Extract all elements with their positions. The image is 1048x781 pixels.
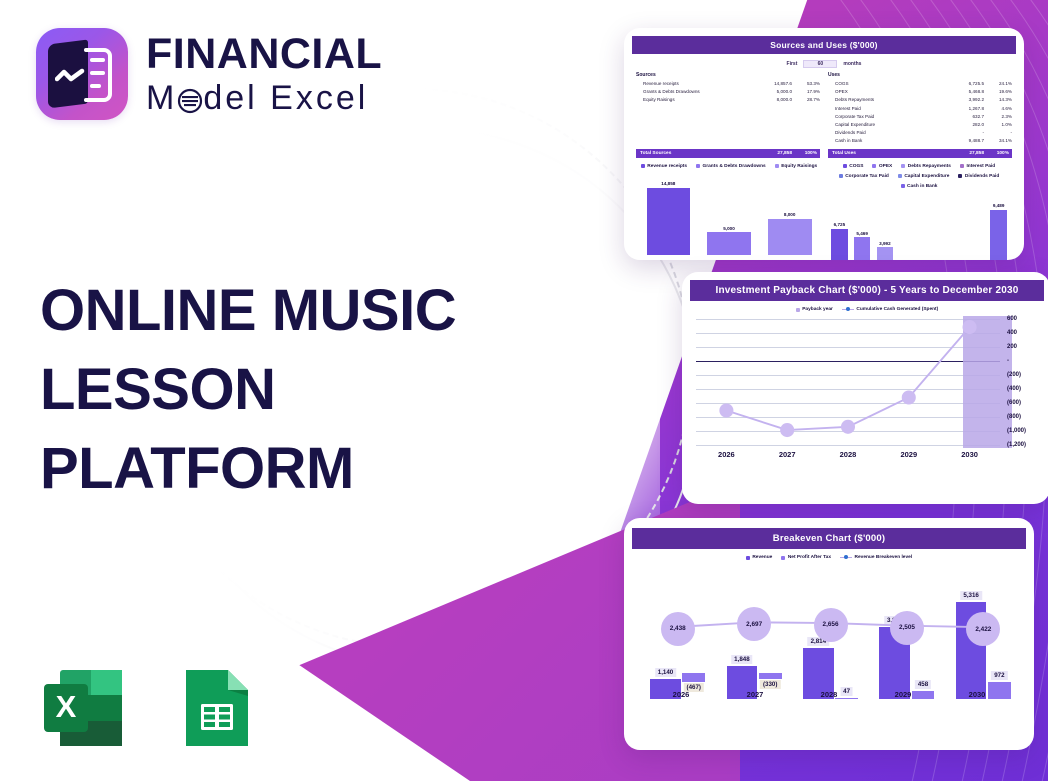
y-axis-tick-label: (400) <box>1002 386 1042 392</box>
card-investment-payback[interactable]: Investment Payback Chart ($'000) - 5 Yea… <box>682 272 1048 504</box>
legend-label: Cash in Bank <box>907 184 937 189</box>
sources-header: Sources <box>636 72 820 78</box>
legend-item: Grants & Debts Drawdowns <box>696 164 766 169</box>
row-pct: 53.3% <box>792 80 820 88</box>
row-pct: 34.1% <box>984 137 1012 145</box>
legend-label: Net Profit After Tax <box>788 555 831 560</box>
legend-swatch <box>641 164 645 168</box>
brand-name-line2: M del Excel <box>146 81 382 115</box>
sources-uses-table: Sources Revenue receipts14,857.653.3%Gra… <box>632 72 1016 158</box>
legend-swatch <box>872 164 876 168</box>
row-pct: 14.3% <box>984 96 1012 104</box>
legend-line <box>842 309 854 311</box>
google-sheets-icon <box>170 662 262 754</box>
bar-column: 0 <box>965 191 988 260</box>
row-value: 5,468.8 <box>944 88 984 96</box>
legend-swatch <box>843 164 847 168</box>
table-row: Debts Repayments3,992.214.3% <box>828 96 1012 104</box>
payback-data-points <box>696 316 1000 440</box>
sources-row-padding <box>636 105 820 146</box>
bar[interactable] <box>854 237 870 260</box>
x-axis-tick-label: 2029 <box>878 450 939 468</box>
row-label: Dividends Paid <box>828 129 944 137</box>
legend-label: Grants & Debts Drawdowns <box>703 164 766 169</box>
breakeven-bubble[interactable]: 2,438 <box>661 612 695 646</box>
legend-label: Payback year <box>802 307 833 312</box>
table-row: Dividends Paid-- <box>828 129 1012 137</box>
legend-swatch <box>796 308 800 312</box>
legend-item: Net Profit After Tax <box>781 555 831 560</box>
legend-item: OPEX <box>872 164 892 169</box>
legend-swatch <box>901 164 905 168</box>
legend-label: Revenue receipts <box>647 164 687 169</box>
row-pct: 24.1% <box>984 80 1012 88</box>
bar-value-label: 5,000 <box>723 226 735 231</box>
row-value: 632.7 <box>944 113 984 121</box>
table-row: Revenue receipts14,857.653.3% <box>636 80 820 88</box>
bar[interactable] <box>768 219 812 255</box>
poster-canvas: FINANCIAL M del Excel ONLINE MUSIC LESSO… <box>0 0 1048 781</box>
uses-rows: COGS6,725.524.1%OPEX5,468.819.6%Debts Re… <box>828 80 1012 146</box>
uses-chart-legend: COGSOPEXDebts RepaymentsInterest PaidCor… <box>826 164 1012 189</box>
hex-o-icon <box>177 82 203 114</box>
page-title-line3: PLATFORM <box>40 430 510 509</box>
sources-rows: Revenue receipts14,857.653.3%Grants & De… <box>636 80 820 105</box>
bar-column: 633 <box>919 191 942 260</box>
legend-label: OPEX <box>879 164 892 169</box>
y-axis-tick-label: (1,200) <box>1002 442 1042 448</box>
legend-item: Payback year <box>796 307 833 312</box>
row-label: OPEX <box>828 88 944 96</box>
brand-name-line1: FINANCIAL <box>146 33 382 76</box>
legend-label: Interest Paid <box>966 164 995 169</box>
row-value: 6,725.5 <box>944 80 984 88</box>
row-value: 282.0 <box>944 121 984 129</box>
legend-label: COGS <box>849 164 863 169</box>
payback-chart-legend: Payback yearCumulative Cash Generated (S… <box>690 307 1044 312</box>
bar-column: 282 <box>942 191 965 260</box>
row-value: 8,000.0 <box>752 96 792 104</box>
breakeven-plot[interactable]: 1,140(467)2,4381,848(330)2,6972,814472,6… <box>638 564 1020 712</box>
uses-bars: 6,7255,4693,9921,26863328209,489 <box>826 191 1012 260</box>
legend-swatch <box>960 164 964 168</box>
gridline <box>696 445 1000 446</box>
page-title-line1: ONLINE MUSIC <box>40 272 510 351</box>
legend-item: Revenue Breakeven level <box>840 555 912 560</box>
legend-label: Equity Raisings <box>781 164 817 169</box>
row-pct: 2.3% <box>984 113 1012 121</box>
legend-swatch <box>898 174 902 178</box>
payback-x-axis: 20262027202820292030 <box>696 450 1000 468</box>
total-sources-row: Total Sources 27,858 100% <box>636 149 820 158</box>
bar-value-label: 1,268 <box>902 259 914 260</box>
card-sources-and-uses[interactable]: Sources and Uses ($'000) First 60 months… <box>624 28 1024 260</box>
months-input[interactable]: 60 <box>803 60 837 68</box>
legend-label: Capital Expenditure <box>904 174 949 179</box>
total-uses-row: Total Uses 27,858 100% <box>828 149 1012 158</box>
legend-line <box>840 557 852 559</box>
row-pct: 1.0% <box>984 121 1012 129</box>
legend-item: Equity Raisings <box>775 164 817 169</box>
total-sources-pct: 100% <box>792 149 820 158</box>
breakeven-bubble[interactable]: 2,422 <box>966 612 1000 646</box>
format-icons: X <box>38 662 262 754</box>
bar[interactable] <box>647 188 691 255</box>
legend-item: Debts Repayments <box>901 164 951 169</box>
row-label: Interest Paid <box>828 105 944 113</box>
y-axis-tick-label: (800) <box>1002 414 1042 420</box>
period-selector[interactable]: First 60 months <box>632 60 1016 68</box>
bar-value-label: 6,725 <box>834 222 846 227</box>
sources-column: Sources Revenue receipts14,857.653.3%Gra… <box>636 72 820 158</box>
row-value: 14,857.6 <box>752 80 792 88</box>
x-axis-tick-label: 2030 <box>939 450 1000 468</box>
breakeven-title: Breakeven Chart ($'000) <box>632 528 1026 549</box>
table-row: Cash in Bank9,488.734.1% <box>828 137 1012 145</box>
row-value: 1,267.8 <box>944 105 984 113</box>
x-axis-tick-label: 2028 <box>818 450 879 468</box>
legend-item: Capital Expenditure <box>898 174 950 179</box>
row-label: Capital Expenditure <box>828 121 944 129</box>
brand-line2-suffix: del Excel <box>203 81 368 115</box>
table-row: Capital Expenditure282.01.0% <box>828 121 1012 129</box>
bar-column: 1,268 <box>896 191 919 260</box>
legend-line-swatch <box>842 309 854 311</box>
legend-swatch <box>839 174 843 178</box>
breakeven-bubble[interactable]: 2,697 <box>737 607 771 641</box>
table-row: Equity Raisings8,000.028.7% <box>636 96 820 104</box>
total-uses-pct: 100% <box>984 149 1012 158</box>
sources-uses-title: Sources and Uses ($'000) <box>632 36 1016 54</box>
row-pct: 19.6% <box>984 88 1012 96</box>
uses-column: Uses COGS6,725.524.1%OPEX5,468.819.6%Deb… <box>828 72 1012 158</box>
card-breakeven-chart[interactable]: Breakeven Chart ($'000) RevenueNet Profi… <box>624 518 1034 750</box>
legend-label: Revenue Breakeven level <box>855 555 913 560</box>
row-label: Equity Raisings <box>636 96 752 104</box>
legend-swatch <box>901 184 905 188</box>
logo-wave-icon <box>55 68 85 89</box>
y-axis-tick-label: 600 <box>1002 316 1042 322</box>
logo-list-lines-icon <box>82 46 114 109</box>
total-uses-value: 27,858 <box>944 149 984 158</box>
row-label: Cash in Bank <box>828 137 944 145</box>
legend-item: Dividends Paid <box>958 174 999 179</box>
bar-column: 14,858 <box>638 171 699 255</box>
legend-label: Debts Repayments <box>908 164 951 169</box>
x-axis-tick-label: 2026 <box>696 450 757 468</box>
row-label: Debts Repayments <box>828 96 944 104</box>
y-axis-tick-label: 400 <box>1002 330 1042 336</box>
bar-column: 6,725 <box>828 191 851 260</box>
y-axis-tick-label: 200 <box>1002 344 1042 350</box>
legend-label: Corporate Tax Paid <box>845 174 889 179</box>
row-value: 9,488.7 <box>944 137 984 145</box>
sources-bar-chart[interactable]: Revenue receiptsGrants & Debts Drawdowns… <box>636 158 822 260</box>
legend-item: Corporate Tax Paid <box>839 174 889 179</box>
legend-swatch <box>746 556 750 560</box>
y-axis-tick-label: (200) <box>1002 372 1042 378</box>
breakeven-bubble[interactable]: 2,656 <box>814 608 848 642</box>
page-title-line2: LESSON <box>40 351 510 430</box>
row-value: - <box>944 129 984 137</box>
legend-item: Cash in Bank <box>901 184 938 189</box>
legend-swatch <box>781 556 785 560</box>
period-prefix-label: First <box>787 61 798 67</box>
legend-label: Dividends Paid <box>965 174 999 179</box>
row-label: Revenue receipts <box>636 80 752 88</box>
page-title: ONLINE MUSIC LESSON PLATFORM <box>40 272 510 509</box>
bar-value-label: 3,992 <box>879 241 891 246</box>
breakeven-bubble[interactable]: 2,505 <box>890 611 924 645</box>
sources-uses-charts: Revenue receiptsGrants & Debts Drawdowns… <box>632 158 1016 260</box>
sources-bars: 14,8585,0008,000 <box>636 171 822 255</box>
legend-label: Cumulative Cash Generated (Spent) <box>856 307 938 312</box>
legend-swatch <box>696 164 700 168</box>
bar-column: 5,000 <box>699 171 760 255</box>
payback-plot[interactable]: 20262027202820292030 600400200-(200)(400… <box>694 316 1042 468</box>
total-sources-value: 27,858 <box>752 149 792 158</box>
row-pct: 17.9% <box>792 88 820 96</box>
bar-column: 9,489 <box>987 191 1010 260</box>
row-pct: - <box>984 129 1012 137</box>
legend-swatch <box>958 174 962 178</box>
table-row: OPEX5,468.819.6% <box>828 88 1012 96</box>
total-uses-label: Total Uses <box>828 149 944 158</box>
bar-column: 8,000 <box>759 171 820 255</box>
table-row: Grants & Debts Drawdowns5,000.017.9% <box>636 88 820 96</box>
payback-title: Investment Payback Chart ($'000) - 5 Yea… <box>690 280 1044 301</box>
legend-item: Revenue receipts <box>641 164 687 169</box>
brand-logo: FINANCIAL M del Excel <box>36 28 382 120</box>
legend-item: Interest Paid <box>960 164 995 169</box>
row-pct: 4.6% <box>984 105 1012 113</box>
row-value: 3,992.2 <box>944 96 984 104</box>
brand-line2-prefix: M <box>146 81 177 115</box>
table-row: COGS6,725.524.1% <box>828 80 1012 88</box>
sources-chart-legend: Revenue receiptsGrants & Debts Drawdowns… <box>636 164 822 169</box>
legend-dot <box>844 555 848 559</box>
bar-value-label: 9,489 <box>993 203 1005 208</box>
x-axis-tick-label: 2027 <box>757 450 818 468</box>
y-axis-tick-label: (1,000) <box>1002 428 1042 434</box>
legend-item: COGS <box>843 164 864 169</box>
breakeven-chart-legend: RevenueNet Profit After TaxRevenue Break… <box>632 555 1026 560</box>
bar[interactable] <box>990 210 1006 260</box>
table-row: Corporate Tax Paid632.72.3% <box>828 113 1012 121</box>
row-value: 5,000.0 <box>752 88 792 96</box>
svg-text:X: X <box>56 689 77 724</box>
legend-item: Cumulative Cash Generated (Spent) <box>842 307 938 312</box>
row-label: Corporate Tax Paid <box>828 113 944 121</box>
legend-line-swatch <box>840 557 852 559</box>
table-row: Interest Paid1,267.84.6% <box>828 105 1012 113</box>
bar-value-label: 14,858 <box>661 181 675 186</box>
legend-label: Revenue <box>752 555 772 560</box>
legend-swatch <box>775 164 779 168</box>
row-pct: 28.7% <box>792 96 820 104</box>
y-axis-tick-label: (600) <box>1002 400 1042 406</box>
financial-model-logo-icon <box>36 28 128 120</box>
bar[interactable] <box>877 247 893 260</box>
row-label: COGS <box>828 80 944 88</box>
bar[interactable] <box>707 232 751 255</box>
uses-bar-chart[interactable]: COGSOPEXDebts RepaymentsInterest PaidCor… <box>826 158 1012 260</box>
legend-item: Revenue <box>746 555 773 560</box>
bar-value-label: 5,469 <box>856 231 868 236</box>
microsoft-excel-icon: X <box>38 662 130 754</box>
bar-column: 5,469 <box>851 191 874 260</box>
total-sources-label: Total Sources <box>636 149 752 158</box>
bar[interactable] <box>831 229 847 260</box>
bar-value-label: 8,000 <box>784 212 796 217</box>
y-axis-tick-label: - <box>1002 358 1042 364</box>
row-label: Grants & Debts Drawdowns <box>636 88 752 96</box>
bar-column: 3,992 <box>874 191 897 260</box>
legend-dot <box>846 307 850 311</box>
period-suffix-label: months <box>843 61 861 67</box>
uses-header: Uses <box>828 72 1012 78</box>
